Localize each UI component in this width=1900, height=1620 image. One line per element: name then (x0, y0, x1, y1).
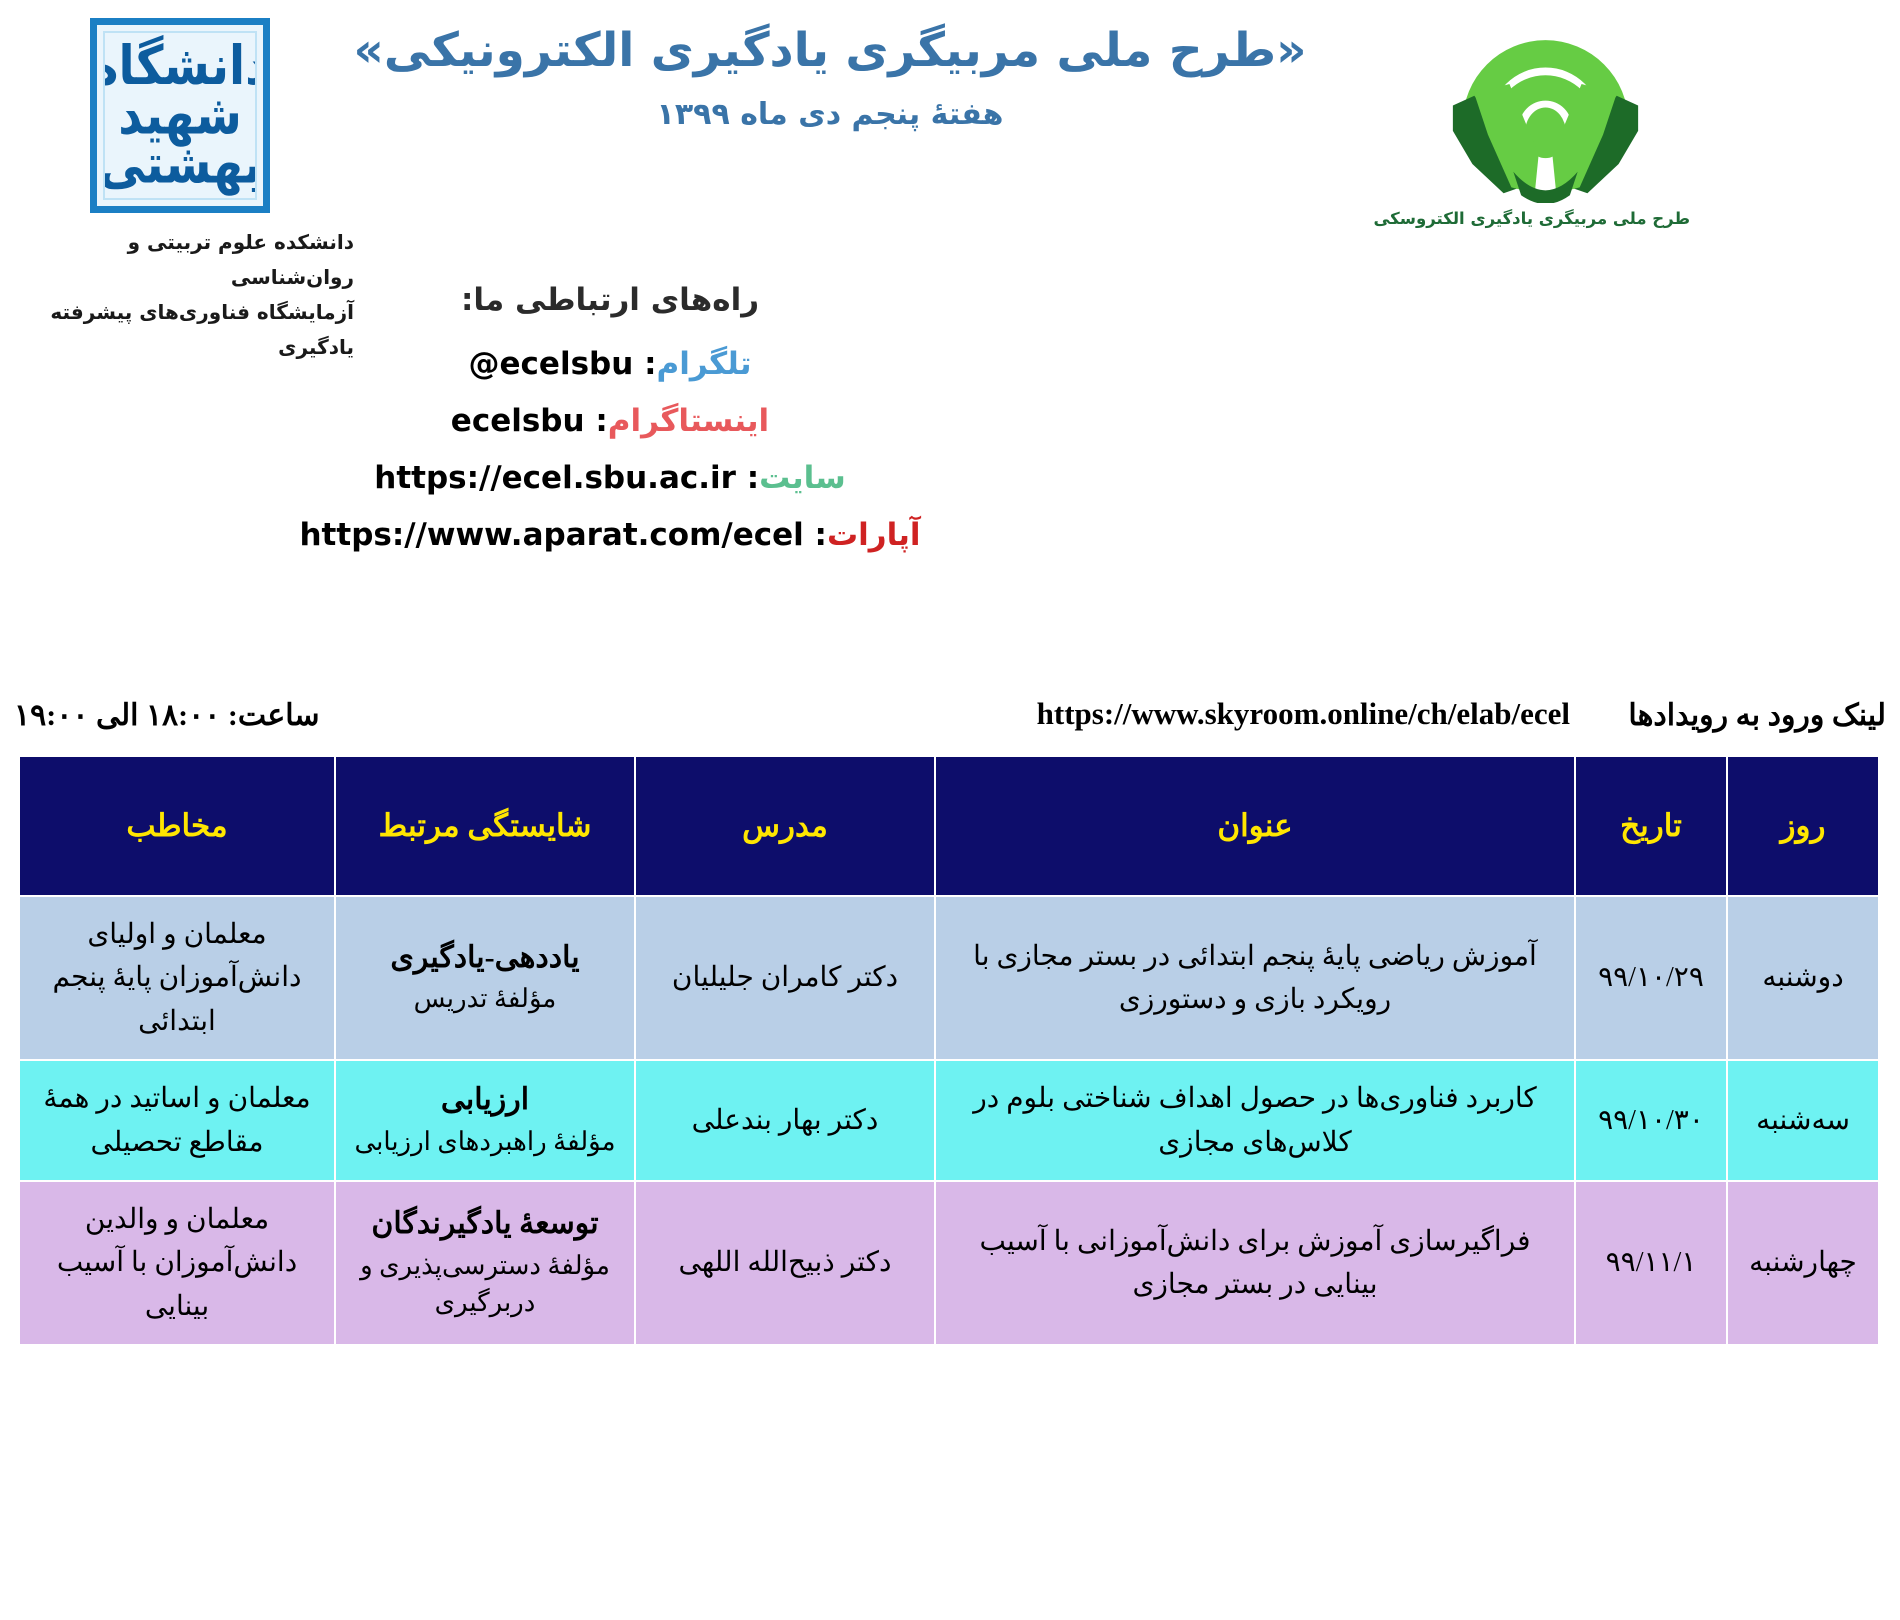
competency-main: ارزیابی (346, 1080, 624, 1121)
contact-value-site[interactable]: https://ecel.sbu.ac.ir (374, 463, 736, 494)
column-header-instructor: مدرس (635, 756, 935, 896)
cell-instructor: دکتر ذبیح‌الله اللهی (635, 1181, 935, 1345)
sbu-university-logo: دانشگاه شهید بهشتی (90, 18, 270, 213)
ecel-program-logo-icon (1433, 8, 1658, 203)
cell-competency: یاددهی-یادگیری مؤلفۀ تدریس (335, 896, 635, 1060)
cell-audience: معلمان و اساتید در همۀ مقاطع تحصیلی (19, 1060, 335, 1181)
column-header-title: عنوان (935, 756, 1575, 896)
event-time: ساعت: ۱۸:۰۰ الی ۱۹:۰۰ (14, 698, 320, 733)
cell-audience: معلمان و والدین دانش‌آموزان با آسیب بینا… (19, 1181, 335, 1345)
column-header-audience: مخاطب (19, 756, 335, 896)
cell-competency: توسعۀ یادگیرندگان مؤلفۀ دسترسی‌پذیری و د… (335, 1181, 635, 1345)
cell-date: ۹۹/۱۰/۲۹ (1575, 896, 1727, 1060)
cell-audience: معلمان و اولیای دانش‌آموزان پایۀ پنجم اب… (19, 896, 335, 1060)
contact-row-site: سایت: https://ecel.sbu.ac.ir (0, 450, 1220, 507)
contact-row-telegram: تلگرام: @ecelsbu (0, 336, 1220, 393)
cell-instructor: دکتر کامران جلیلیان (635, 896, 935, 1060)
competency-main: یاددهی-یادگیری (346, 938, 624, 979)
contact-label-site: سایت (759, 460, 846, 496)
event-link-label: لینک ورود به رویدادها (1628, 698, 1886, 733)
table-header-row: روز تاریخ عنوان مدرس شایستگی مرتبط مخاطب (19, 756, 1879, 896)
table-row: دوشنبه ۹۹/۱۰/۲۹ آموزش ریاضی پایۀ پنجم اب… (19, 896, 1879, 1060)
competency-sub: مؤلفۀ راهبردهای ارزیابی (346, 1123, 624, 1161)
competency-sub: مؤلفۀ تدریس (346, 980, 624, 1018)
ecel-logo-caption: طرح ملی مربیگری یادگیری الکتروسکی (1400, 209, 1690, 228)
column-header-day: روز (1727, 756, 1879, 896)
contact-block: راه‌های ارتباطی ما: تلگرام: @ecelsbu این… (0, 282, 1220, 564)
contact-label-aparat: آپارات (827, 517, 921, 553)
contact-row-aparat: آپارات: https://www.aparat.com/ecel (0, 507, 1220, 564)
schedule-table-wrap: روز تاریخ عنوان مدرس شایستگی مرتبط مخاطب… (20, 755, 1880, 1346)
cell-title: آموزش ریاضی پایۀ پنجم ابتدائی در بستر مج… (935, 896, 1575, 1060)
table-row: چهارشنبه ۹۹/۱۱/۱ فراگیرسازی آموزش برای د… (19, 1181, 1879, 1345)
page-subtitle: هفتۀ پنجم دی ماه ۱۳۹۹ (330, 95, 1330, 134)
title-block: «طرح ملی مربیگری یادگیری الکترونیکی» هفت… (330, 22, 1330, 134)
cell-date: ۹۹/۱۰/۳۰ (1575, 1060, 1727, 1181)
contact-value-instagram[interactable]: ecelsbu (451, 406, 585, 437)
ecel-logo-block: طرح ملی مربیگری یادگیری الکتروسکی (1400, 8, 1690, 228)
contact-label-instagram: اینستاگرام (608, 403, 769, 439)
cell-day: چهارشنبه (1727, 1181, 1879, 1345)
cell-competency: ارزیابی مؤلفۀ راهبردهای ارزیابی (335, 1060, 635, 1181)
competency-main: توسعۀ یادگیرندگان (346, 1204, 624, 1245)
cell-date: ۹۹/۱۱/۱ (1575, 1181, 1727, 1345)
contact-label-telegram: تلگرام (657, 346, 752, 382)
page-title: «طرح ملی مربیگری یادگیری الکترونیکی» (330, 22, 1330, 81)
contact-heading: راه‌های ارتباطی ما: (0, 282, 1220, 336)
poster-header: دانشگاه شهید بهشتی دانشکده علوم تربیتی و… (0, 0, 1900, 300)
event-link-url[interactable]: https://www.skyroom.online/ch/elab/ecel (1037, 696, 1570, 732)
column-header-date: تاریخ (1575, 756, 1727, 896)
cell-day: دوشنبه (1727, 896, 1879, 1060)
contact-value-aparat[interactable]: https://www.aparat.com/ecel (299, 520, 803, 551)
cell-title: فراگیرسازی آموزش برای دانش‌آموزانی با آس… (935, 1181, 1575, 1345)
cell-title: کاربرد فناوری‌ها در حصول اهداف شناختی بل… (935, 1060, 1575, 1181)
competency-sub: مؤلفۀ دسترسی‌پذیری و دربرگیری (346, 1247, 624, 1322)
contact-value-telegram[interactable]: @ecelsbu (469, 349, 634, 380)
event-link-bar: لینک ورود به رویدادها https://www.skyroo… (0, 690, 1900, 750)
table-row: سه‌شنبه ۹۹/۱۰/۳۰ کاربرد فناوری‌ها در حصو… (19, 1060, 1879, 1181)
cell-instructor: دکتر بهار بندعلی (635, 1060, 935, 1181)
sbu-logo-calligraphy: دانشگاه شهید بهشتی (103, 41, 257, 190)
schedule-table: روز تاریخ عنوان مدرس شایستگی مرتبط مخاطب… (18, 755, 1880, 1346)
contact-row-instagram: اینستاگرام: ecelsbu (0, 393, 1220, 450)
cell-day: سه‌شنبه (1727, 1060, 1879, 1181)
column-header-competency: شایستگی مرتبط (335, 756, 635, 896)
